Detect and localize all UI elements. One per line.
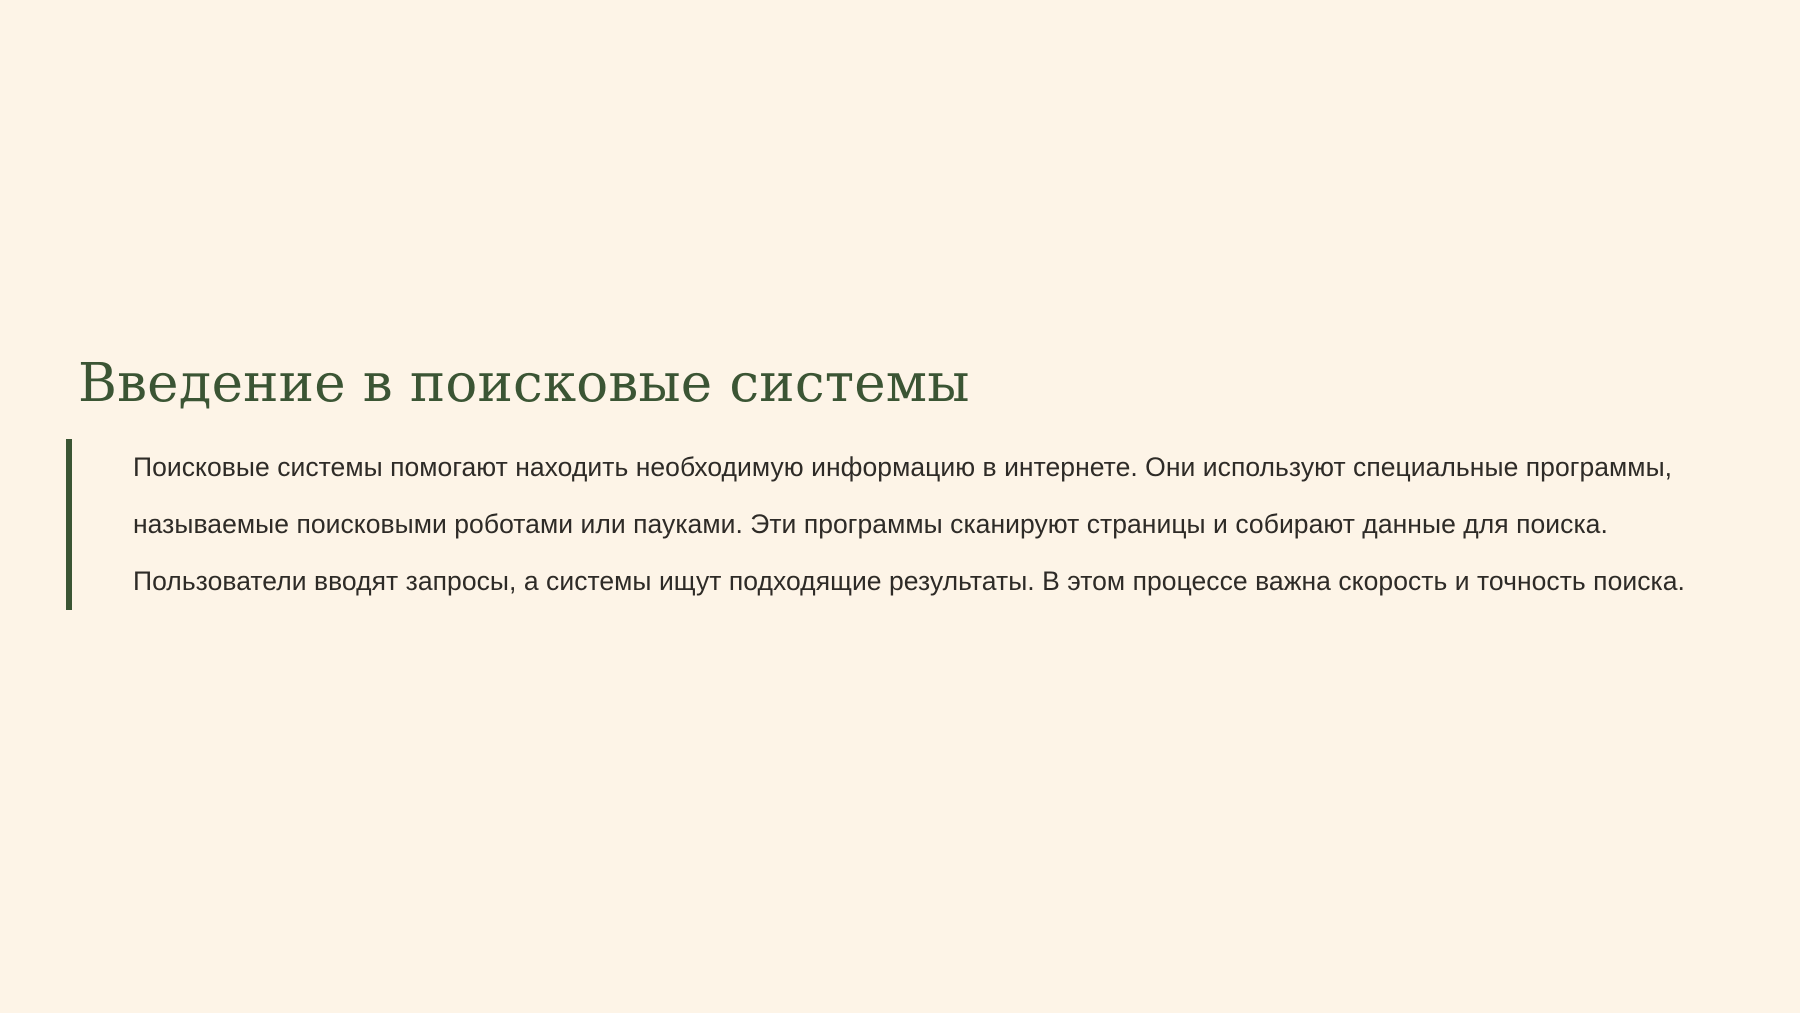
article-section: Введение в поисковые системы Поисковые с… <box>66 355 1746 610</box>
callout-block: Поисковые системы помогают находить необ… <box>66 439 1746 610</box>
document-page: Введение в поисковые системы Поисковые с… <box>0 0 1800 1013</box>
page-title: Введение в поисковые системы <box>78 355 1746 412</box>
body-paragraph: Поисковые системы помогают находить необ… <box>133 439 1733 610</box>
